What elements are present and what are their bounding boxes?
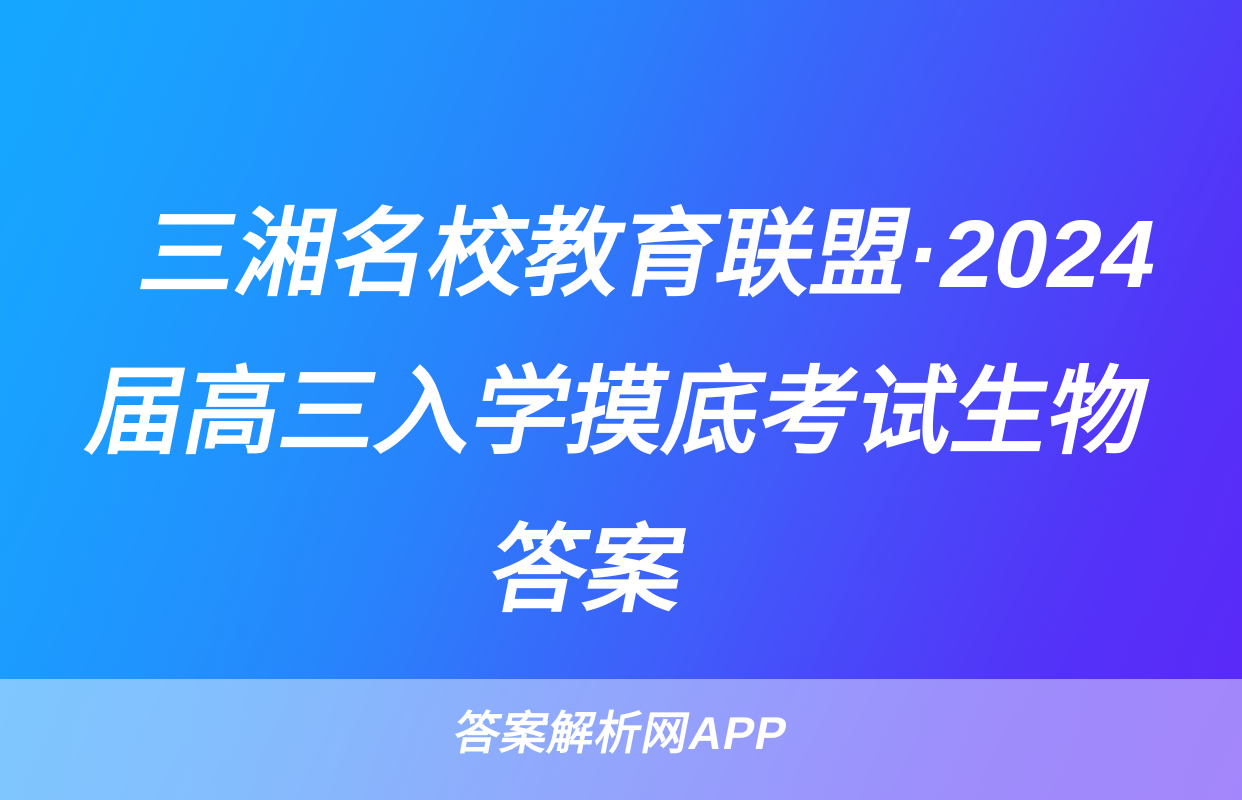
title-card: 三湘名校教育联盟·2024 届高三入学摸底考试生物 答案 答案解析网APP (0, 0, 1242, 800)
title-line-1: 三湘名校教育联盟·2024 (15, 176, 1242, 334)
title-line-2: 届高三入学摸底考试生物 (0, 334, 1242, 492)
page-title: 三湘名校教育联盟·2024 届高三入学摸底考试生物 答案 (0, 176, 1242, 650)
title-line-3: 答案 (0, 492, 1227, 650)
watermark-app-name: 答案解析网APP (0, 704, 1242, 762)
